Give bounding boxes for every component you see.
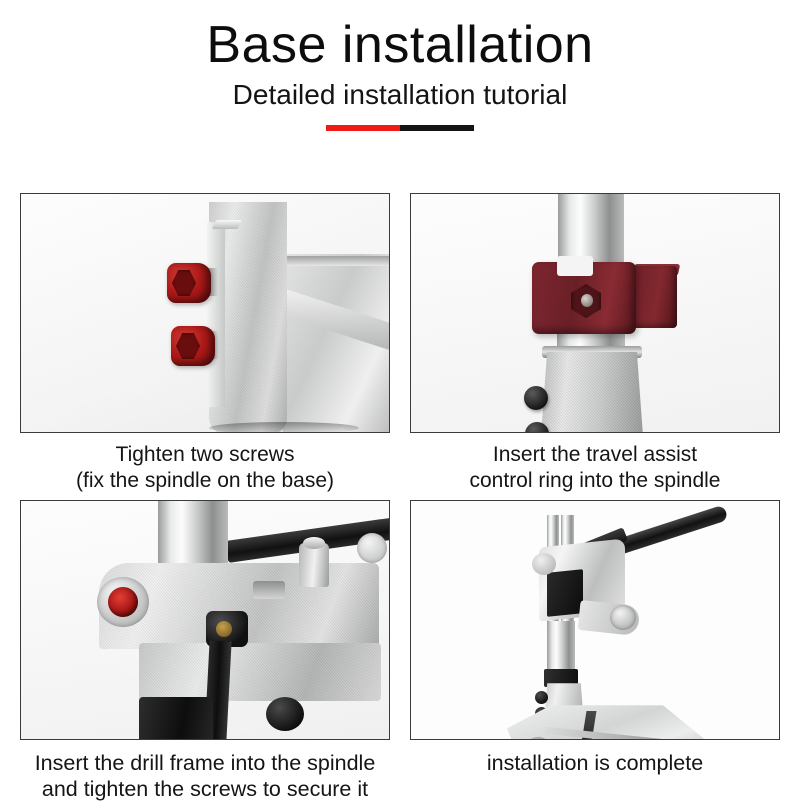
- caption-line: Insert the drill frame into the spindle: [20, 750, 390, 776]
- page-subtitle: Detailed installation tutorial: [0, 79, 800, 111]
- caption-line: control ring into the spindle: [410, 468, 780, 494]
- caption-line: and tighten the screws to secure it: [20, 776, 390, 802]
- black-bottom-screw: [266, 697, 304, 731]
- step-3-caption: Insert the drill frame into the spindle …: [20, 740, 390, 802]
- caption-line: (fix the spindle on the base): [20, 468, 390, 494]
- step-1-photo: [20, 193, 390, 433]
- column-flange: [207, 222, 225, 407]
- control-ring-notch: [557, 256, 593, 276]
- spindle-sleeve: [541, 352, 643, 433]
- step-1-caption: Tighten two screws (fix the spindle on t…: [20, 433, 390, 493]
- divider-segment-red: [326, 125, 400, 131]
- step-3-photo: [20, 500, 390, 740]
- drill-frame-casting-lower: [139, 643, 381, 701]
- step-4-photo: [410, 500, 780, 740]
- caption-line: Tighten two screws: [20, 442, 390, 468]
- red-hex-knob-upper: [167, 263, 211, 303]
- tutorial-step-3: Insert the drill frame into the spindle …: [20, 500, 390, 802]
- page-header: Base installation Detailed installation …: [0, 0, 800, 131]
- caption-line: installation is complete: [410, 750, 780, 776]
- tutorial-step-4: installation is complete: [410, 500, 780, 802]
- step-2-photo: [410, 193, 780, 433]
- casting-slot: [253, 581, 285, 599]
- red-hex-knob-lower: [171, 326, 215, 366]
- tutorial-step-2: Insert the travel assist control ring in…: [410, 193, 780, 493]
- column-lower: [547, 621, 575, 673]
- carriage-black-face: [547, 569, 583, 617]
- control-ring-wing: [633, 266, 677, 328]
- page-title: Base installation: [0, 18, 800, 73]
- divider-segment-black: [400, 125, 474, 131]
- tutorial-step-grid: Tighten two screws (fix the spindle on t…: [20, 193, 780, 803]
- hex-screw-head: [581, 294, 593, 307]
- title-divider: [326, 125, 474, 131]
- step-4-caption: installation is complete: [410, 740, 780, 798]
- black-tube: [139, 697, 213, 740]
- base-plate-edge: [283, 256, 390, 266]
- base-mounting-hole: [529, 737, 547, 740]
- step-2-caption: Insert the travel assist control ring in…: [410, 433, 780, 493]
- column-flange-tip: [212, 220, 242, 229]
- black-knob-upper: [524, 386, 548, 410]
- caption-line: Insert the travel assist: [410, 442, 780, 468]
- base-shadow: [209, 422, 359, 433]
- clamp-stud: [299, 543, 329, 587]
- tutorial-step-1: Tighten two screws (fix the spindle on t…: [20, 193, 390, 493]
